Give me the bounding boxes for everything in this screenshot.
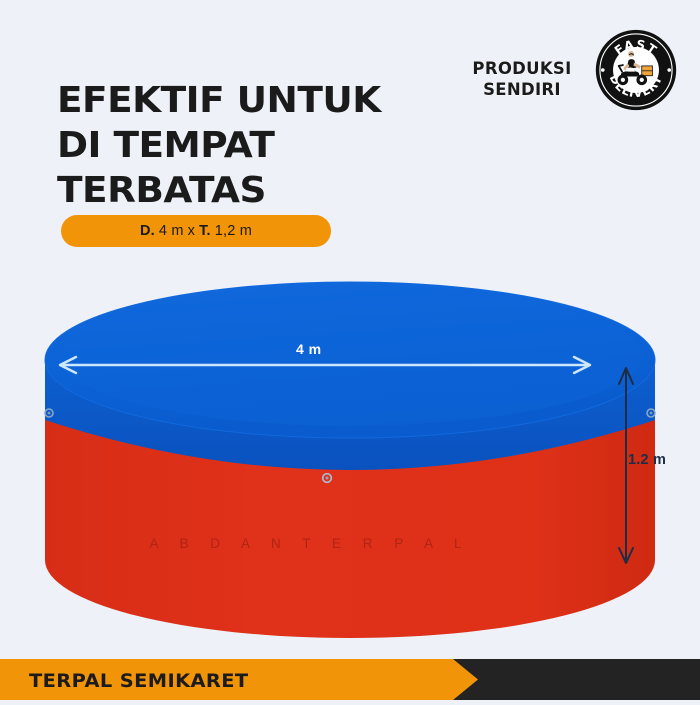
tank-graphic [0,260,700,650]
size-badge-label: D.4 mxT.1,2 m [140,223,252,239]
diameter-prefix: D. [140,223,155,239]
produksi-sendiri-badge: PRODUKSI SENDIRI [462,58,582,100]
fast-delivery-stamp-icon: FAST DELIVERY [595,29,677,111]
page-title: EFEKTIF UNTUK DI TEMPAT TERBATAS [57,78,457,213]
height-value: 1,2 m [215,223,252,239]
size-separator: x [188,223,195,239]
produksi-sendiri-line-1: PRODUKSI [462,58,582,79]
width-dimension-label: 4 m [296,341,322,357]
fast-delivery-stamp: FAST DELIVERY [595,29,677,111]
size-badge: D.4 mxT.1,2 m [61,215,331,247]
height-prefix: T. [199,223,211,239]
page-title-line-1: EFEKTIF UNTUK [57,78,473,123]
produksi-sendiri-line-2: SENDIRI [462,79,582,100]
tank-illustration [0,260,700,650]
brand-watermark: A B D A N T E R P A L [0,536,620,551]
page-title-line-3: TERBATAS [57,168,473,213]
height-dimension-label: 1.2 m [628,452,666,468]
tank-top-face [45,282,655,438]
bottom-banner-label: TERPAL SEMIKARET [29,670,249,692]
diameter-value: 4 m [159,223,184,239]
page-title-line-2: DI TEMPAT [57,123,473,168]
banner-black-chevron [453,659,700,700]
